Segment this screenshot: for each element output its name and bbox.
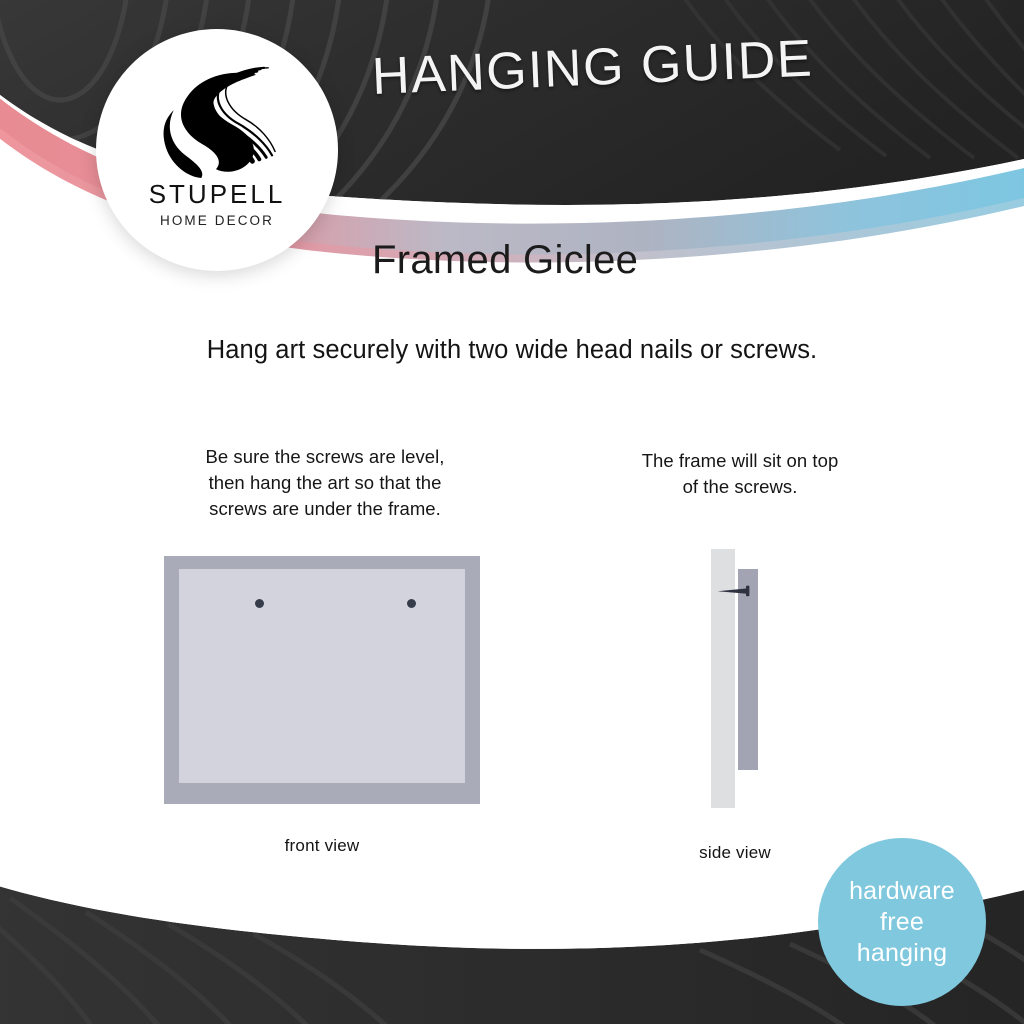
- brand-name: STUPELL: [149, 181, 286, 207]
- screw-dot-left-icon: [255, 599, 264, 608]
- badge-line-1: hardware: [849, 876, 955, 907]
- badge-line-3: hanging: [857, 938, 947, 969]
- side-view-instructions: The frame will sit on top of the screws.: [580, 448, 900, 500]
- side-instruction-line-2: of the screws.: [580, 474, 900, 500]
- brand-logo-badge: STUPELL HOME DECOR: [96, 29, 338, 271]
- product-type-label: Framed Giclee: [372, 238, 638, 283]
- side-view-frame-shape: [738, 569, 758, 770]
- hardware-free-hanging-badge: hardware free hanging: [818, 838, 986, 1006]
- front-instruction-line-2: then hang the art so that the: [140, 470, 510, 496]
- lead-instruction-text: Hang art securely with two wide head nai…: [0, 336, 1024, 365]
- stupell-swirl-logo-icon: [158, 53, 276, 179]
- front-view-frame-diagram: [164, 556, 480, 804]
- front-instruction-line-1: Be sure the screws are level,: [140, 444, 510, 470]
- nail-icon: [717, 585, 753, 597]
- front-view-panel: Be sure the screws are level, then hang …: [140, 444, 510, 522]
- screw-dot-right-icon: [407, 599, 416, 608]
- badge-line-2: free: [880, 907, 924, 938]
- front-view-instructions: Be sure the screws are level, then hang …: [140, 444, 510, 522]
- side-instruction-line-1: The frame will sit on top: [580, 448, 900, 474]
- front-view-frame-inner-panel: [179, 569, 465, 783]
- side-view-caption: side view: [630, 843, 840, 863]
- front-instruction-line-3: screws are under the frame.: [140, 496, 510, 522]
- brand-tagline: HOME DECOR: [160, 214, 274, 228]
- page-title: HANGING GUIDE: [371, 25, 893, 107]
- front-view-caption: front view: [164, 836, 480, 856]
- hanging-guide-page: STUPELL HOME DECOR HANGING GUIDE Framed …: [0, 0, 1024, 1024]
- side-view-panel: The frame will sit on top of the screws.: [580, 448, 900, 500]
